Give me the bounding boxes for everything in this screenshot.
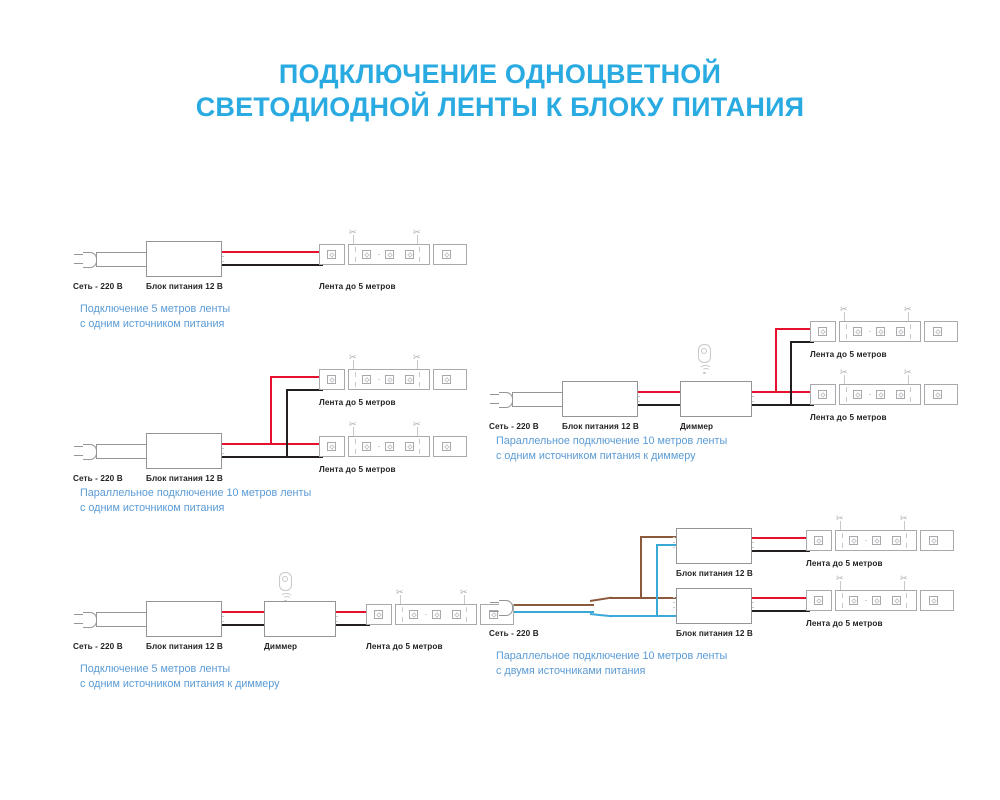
label-mains: Сеть - 220 В bbox=[489, 629, 539, 638]
caption-line-1: Параллельное подключение 10 метров ленты bbox=[496, 434, 727, 449]
power-supply-unit bbox=[676, 528, 752, 564]
label-dimmer: Диммер bbox=[680, 422, 713, 431]
wire-positive-branch bbox=[775, 328, 777, 393]
wire-positive bbox=[752, 597, 810, 599]
label-mains: Сеть - 220 В bbox=[73, 474, 123, 483]
wire-neutral-riser-top bbox=[656, 544, 676, 546]
power-supply-unit bbox=[146, 433, 222, 469]
label-strip: Лента до 5 метров bbox=[319, 465, 396, 474]
diagram-parallel-two-strips-two-psu: Блок питания 12 В ✂ ✂ Лента до 5 метров … bbox=[490, 518, 950, 673]
caption-line-1: Подключение 5 метров ленты bbox=[80, 302, 230, 317]
wire-live bbox=[514, 604, 594, 606]
caption-line-1: Подключение 5 метров ленты bbox=[80, 662, 280, 677]
led-strip: ✂ ✂ bbox=[806, 590, 966, 611]
label-strip: Лента до 5 метров bbox=[810, 350, 887, 359]
label-psu: Блок питания 12 В bbox=[676, 629, 753, 638]
wire-negative bbox=[222, 456, 323, 458]
mains-cable bbox=[96, 444, 147, 459]
label-strip: Лента до 5 метров bbox=[806, 619, 883, 628]
mains-cable bbox=[96, 252, 147, 267]
diagram-caption: Параллельное подключение 10 метров ленты… bbox=[80, 486, 311, 516]
power-supply-unit bbox=[676, 588, 752, 624]
label-strip: Лента до 5 метров bbox=[806, 559, 883, 568]
wire-negative-out bbox=[336, 624, 370, 626]
wire-positive bbox=[638, 391, 680, 393]
label-psu: Блок питания 12 В bbox=[146, 474, 223, 483]
wire-positive bbox=[222, 443, 323, 445]
label-psu: Блок питания 12 В bbox=[146, 642, 223, 651]
caption-line-2: с одним источником питания к диммеру bbox=[80, 677, 280, 692]
caption-line-1: Параллельное подключение 10 метров ленты bbox=[496, 649, 727, 664]
wire-positive-branch-top bbox=[775, 328, 814, 330]
led-strip: ✂ ✂ bbox=[810, 384, 970, 405]
label-strip: Лента до 5 метров bbox=[319, 282, 396, 291]
wire-live-riser bbox=[640, 536, 642, 599]
power-supply-unit bbox=[562, 381, 638, 417]
wire-live-riser-top bbox=[640, 536, 676, 538]
wire-negative-branch-top bbox=[286, 389, 323, 391]
wire-positive-out bbox=[336, 611, 370, 613]
diagram-parallel-two-strips-one-psu: ✂ ✂ Лента до 5 метров ✂ ✂ Сеть - 220 В Б… bbox=[74, 366, 494, 516]
diagram-parallel-two-strips-one-psu-dimmer: ✂ ✂ Лента до 5 метров ✂ ✂ Сеть - 220 В Б… bbox=[490, 318, 940, 468]
power-supply-unit bbox=[146, 241, 222, 277]
wire-positive-branch bbox=[270, 376, 272, 445]
label-mains: Сеть - 220 В bbox=[73, 642, 123, 651]
wire-negative bbox=[752, 550, 810, 552]
diagram-single-strip-one-psu-dimmer: ✂ ✂ Сеть - 220 В Блок питания 12 В Димме… bbox=[74, 576, 494, 686]
page-title: ПОДКЛЮЧЕНИЕ ОДНОЦВЕТНОЙ СВЕТОДИОДНОЙ ЛЕН… bbox=[0, 58, 1000, 124]
caption-line-2: с двумя источниками питания bbox=[496, 664, 727, 679]
wire-positive bbox=[222, 611, 264, 613]
caption-line-2: с одним источником питания bbox=[80, 317, 230, 332]
label-strip: Лента до 5 метров bbox=[366, 642, 443, 651]
mains-cable bbox=[96, 612, 147, 627]
led-strip: ✂ ✂ bbox=[319, 244, 479, 265]
caption-line-1: Параллельное подключение 10 метров ленты bbox=[80, 486, 311, 501]
led-strip: ✂ ✂ bbox=[319, 436, 479, 457]
label-mains: Сеть - 220 В bbox=[73, 282, 123, 291]
wire-negative bbox=[222, 264, 323, 266]
wire-neutral-split bbox=[590, 613, 612, 617]
diagram-caption: Подключение 5 метров ленты с одним источ… bbox=[80, 302, 230, 332]
label-mains: Сеть - 220 В bbox=[489, 422, 539, 431]
page-title-line-2: СВЕТОДИОДНОЙ ЛЕНТЫ К БЛОКУ ПИТАНИЯ bbox=[0, 91, 1000, 124]
label-psu: Блок питания 12 В bbox=[146, 282, 223, 291]
label-dimmer: Диммер bbox=[264, 642, 297, 651]
page-title-line-1: ПОДКЛЮЧЕНИЕ ОДНОЦВЕТНОЙ bbox=[0, 58, 1000, 91]
caption-line-2: с одним источником питания bbox=[80, 501, 311, 516]
power-supply-unit bbox=[146, 601, 222, 637]
wire-positive-branch-top bbox=[270, 376, 323, 378]
led-strip: ✂ ✂ bbox=[810, 321, 970, 342]
dimmer-unit bbox=[680, 381, 752, 417]
dimmer-unit bbox=[264, 601, 336, 637]
wire-negative-branch bbox=[286, 389, 288, 458]
wire-positive-out bbox=[752, 391, 814, 393]
led-strip: ✂ ✂ bbox=[806, 530, 966, 551]
wire-negative bbox=[222, 624, 264, 626]
mains-cable bbox=[512, 392, 563, 407]
diagram-caption: Параллельное подключение 10 метров ленты… bbox=[496, 649, 727, 679]
label-strip: Лента до 5 метров bbox=[319, 398, 396, 407]
wire-neutral bbox=[514, 611, 594, 613]
label-psu: Блок питания 12 В bbox=[562, 422, 639, 431]
diagram-caption: Параллельное подключение 10 метров ленты… bbox=[496, 434, 727, 464]
label-strip: Лента до 5 метров bbox=[810, 413, 887, 422]
wire-negative bbox=[752, 610, 810, 612]
diagram-single-strip-one-psu: ✂ ✂ Сеть - 220 В Блок питания 12 В Лента… bbox=[74, 236, 484, 336]
wire-negative bbox=[638, 404, 680, 406]
led-strip: ✂ ✂ bbox=[319, 369, 479, 390]
wire-positive bbox=[222, 251, 323, 253]
wire-negative-out bbox=[752, 404, 814, 406]
wire-neutral-bus bbox=[610, 615, 676, 617]
caption-line-2: с одним источником питания к диммеру bbox=[496, 449, 727, 464]
wire-live-bus bbox=[610, 597, 676, 599]
label-psu: Блок питания 12 В bbox=[676, 569, 753, 578]
diagram-caption: Подключение 5 метров ленты с одним источ… bbox=[80, 662, 280, 692]
wire-live-split bbox=[590, 597, 612, 602]
wire-negative-branch bbox=[790, 341, 792, 406]
wire-neutral-riser bbox=[656, 544, 658, 617]
wire-positive bbox=[752, 537, 810, 539]
